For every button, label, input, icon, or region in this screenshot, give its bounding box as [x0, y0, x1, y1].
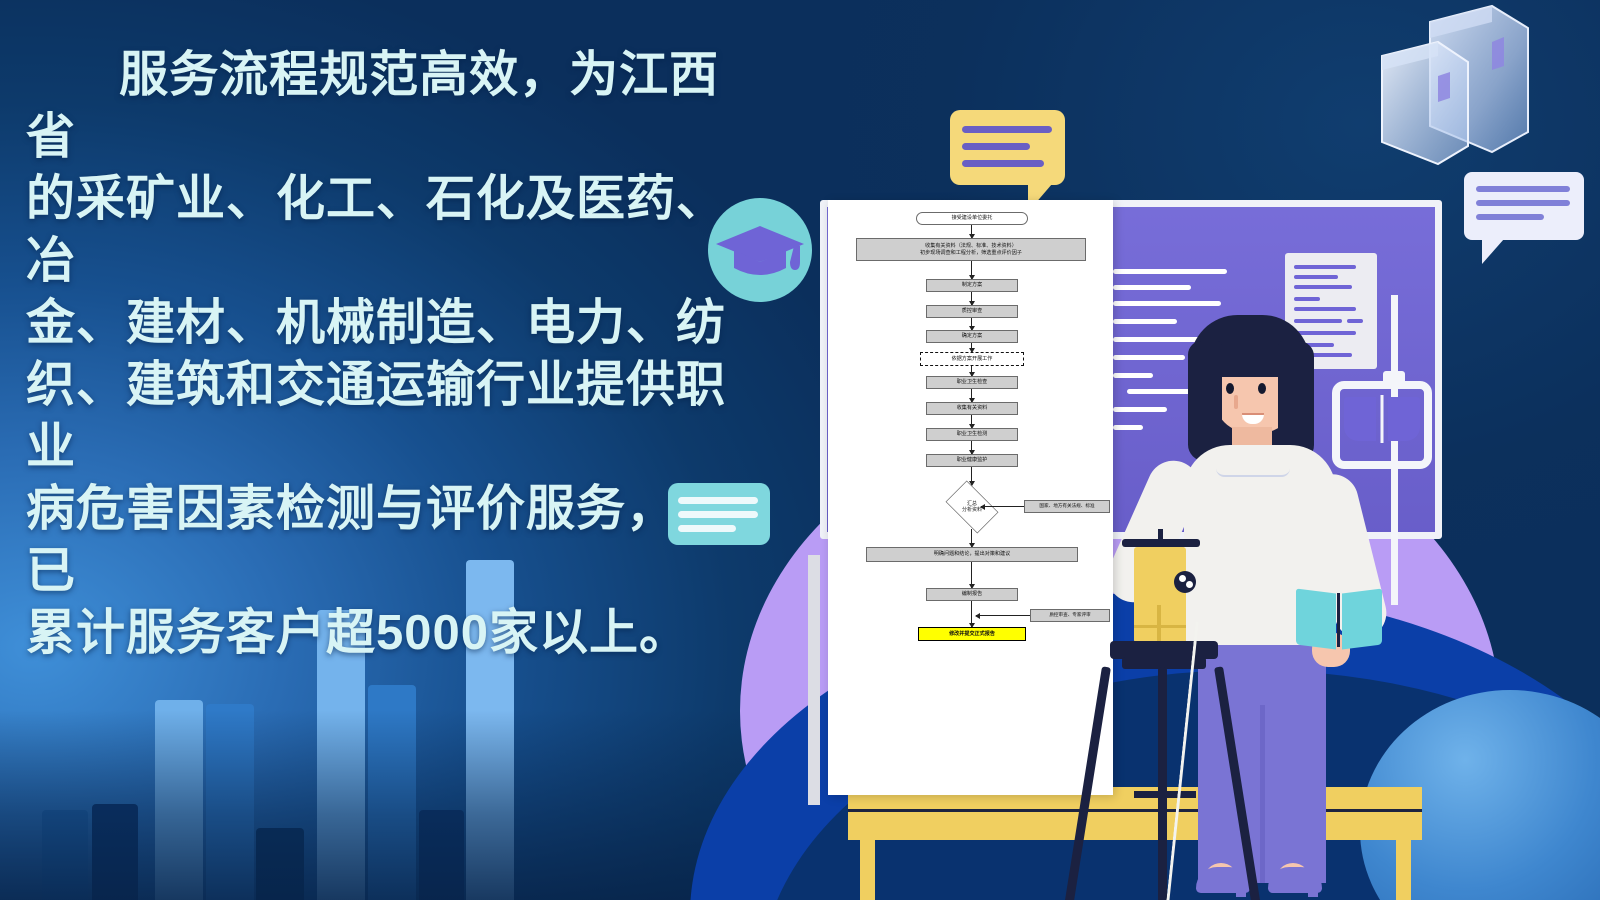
- flow-node-n2: 收集有关资料（法规、标准、技术资料） 初步现场调查和工程分析，筛选重点评价因子: [856, 238, 1086, 261]
- classroom-illustration: 接受建设单位委托 收集有关资料（法规、标准、技术资料） 初步现场调查和工程分析，…: [820, 195, 1440, 835]
- board-text-line: [1113, 373, 1153, 378]
- tripod-brace: [1134, 791, 1196, 798]
- books-stack-decoration: [1342, 4, 1542, 194]
- flow-node-n1: 接受建设单位委托: [916, 212, 1028, 225]
- presenter-leg-split: [1260, 705, 1265, 883]
- flow-arrow: [971, 225, 972, 238]
- flow-node-n3: 制定方案: [926, 279, 1018, 292]
- document-line: [1294, 285, 1352, 289]
- book-page-right: [1388, 397, 1420, 441]
- flow-arrow: [971, 343, 972, 352]
- flow-arrow: [971, 415, 972, 428]
- instrument-dial: [1174, 571, 1196, 593]
- board-text-line: [1113, 285, 1191, 290]
- notebook-spine: [1337, 593, 1340, 647]
- document-line: [1294, 297, 1320, 301]
- bubble-line: [1476, 186, 1570, 192]
- board-text-line: [1113, 425, 1143, 430]
- instrument-slit: [1157, 605, 1161, 641]
- flow-arrow: [971, 366, 972, 376]
- presenter-heel-right: [1308, 871, 1318, 897]
- flow-node-n6: 依据方案开展工作: [920, 352, 1024, 366]
- flow-node-n5: 确定方案: [926, 330, 1018, 343]
- flow-node-n12: 明确问题和结论，提出对策和建议: [866, 547, 1078, 562]
- speech-bubble-white: [1464, 172, 1584, 240]
- bubble-tail: [1482, 239, 1504, 264]
- flow-arrow: [971, 292, 972, 305]
- books-icon: [1342, 4, 1542, 194]
- document-line: [1294, 275, 1338, 279]
- speech-bubble-cyan: [668, 483, 770, 545]
- flow-arrow: [971, 529, 972, 547]
- flow-arrow: [971, 601, 972, 627]
- presenter-eye-right: [1258, 383, 1266, 394]
- presenter-eyebrow-right: [1254, 373, 1272, 377]
- document-line: [1294, 307, 1356, 311]
- bubble-line: [678, 511, 758, 518]
- flow-node-n8: 收集有关资料: [926, 402, 1018, 415]
- flow-node-n13: 编制报告: [926, 588, 1018, 601]
- page-title: 服务流程规范高效，为江西省 的采矿业、化工、石化及医药、冶 金、建材、机械制造、…: [26, 44, 766, 664]
- desk-leg-right: [1396, 840, 1411, 900]
- instrument-top-bar: [1122, 539, 1200, 547]
- board-text-line: [1113, 301, 1221, 306]
- bubble-line: [962, 160, 1044, 167]
- headline-line-6: 累计服务客户超5000家以上。: [26, 602, 766, 664]
- poster-canvas: 服务流程规范高效，为江西省 的采矿业、化工、石化及医药、冶 金、建材、机械制造、…: [0, 0, 1600, 900]
- headline-line-5: 病危害因素检测与评价服务，现已: [26, 478, 766, 602]
- headline-line-2: 的采矿业、化工、石化及医药、冶: [26, 168, 766, 292]
- bubble-line: [962, 143, 1030, 150]
- flow-node-n7: 职业卫生检查: [926, 376, 1018, 389]
- flow-connector: [981, 506, 1024, 507]
- flow-node-n9: 职业卫生检测: [926, 428, 1018, 441]
- flow-arrow: [971, 562, 972, 588]
- tripod-instrument: [1088, 595, 1238, 900]
- presenter-nose: [1234, 395, 1238, 409]
- presenter-notebook: [1296, 591, 1382, 647]
- flow-arrow: [971, 318, 972, 330]
- flow-node-n4: 质控审查: [926, 305, 1018, 318]
- decision-label: 汇总分析资料: [962, 501, 982, 514]
- flow-arrow: [971, 467, 972, 485]
- bubble-line: [678, 525, 736, 532]
- wall-edge-strip: [808, 555, 820, 805]
- headline-line-1: 服务流程规范高效，为江西省: [26, 44, 766, 168]
- bubble-line: [1476, 214, 1544, 220]
- desk-leg-left: [860, 840, 875, 900]
- flow-side-node-s1: 国家、地方有关法规、标准: [1024, 500, 1110, 513]
- presenter-eyebrow-left: [1222, 373, 1240, 377]
- instrument-band: [1134, 625, 1186, 628]
- presenter-eye-left: [1226, 383, 1234, 394]
- presenter-collar: [1216, 445, 1290, 477]
- flow-arrow: [971, 389, 972, 402]
- flow-node-n14: 修改并提交正式报告: [918, 627, 1026, 641]
- notebook-page-right: [1342, 589, 1382, 650]
- board-text-line: [1113, 269, 1227, 274]
- flow-arrow: [971, 441, 972, 454]
- headline-line-4: 织、建筑和交通运输行业提供职业: [26, 354, 766, 478]
- headline-line-3: 金、建材、机械制造、电力、纺: [26, 292, 766, 354]
- bubble-line: [962, 126, 1052, 133]
- bubble-line: [1476, 200, 1570, 206]
- notebook-page-left: [1296, 589, 1336, 650]
- flow-arrow: [971, 261, 972, 279]
- flowchart-sheet: 接受建设单位委托 收集有关资料（法规、标准、技术资料） 初步现场调查和工程分析，…: [828, 200, 1113, 795]
- bubble-line: [678, 497, 758, 504]
- book-spine: [1381, 395, 1384, 443]
- tripod-leg-center: [1158, 667, 1167, 900]
- presenter-hair-left: [1188, 341, 1222, 461]
- flow-connector: [976, 615, 1030, 616]
- flow-node-n10: 职业健康监护: [926, 454, 1018, 467]
- document-line: [1294, 265, 1356, 269]
- speech-bubble-yellow: [950, 110, 1065, 185]
